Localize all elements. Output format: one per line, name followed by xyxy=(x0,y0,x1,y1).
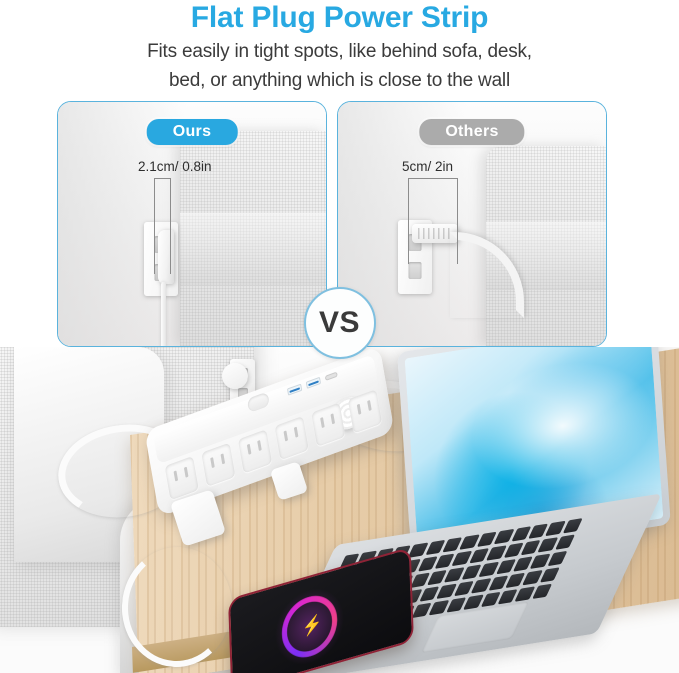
hero-wall-plug xyxy=(222,363,248,389)
outlet-socket-bottom xyxy=(409,262,422,279)
badge-others: Others xyxy=(419,119,524,145)
strip-outlet xyxy=(275,416,309,460)
strip-outlet xyxy=(238,429,272,473)
measurement-bracket-ours xyxy=(154,178,171,274)
product-infographic: Flat Plug Power Strip Fits easily in tig… xyxy=(0,0,679,673)
comparison-panel-others: 5cm/ 2in Others xyxy=(337,101,607,347)
comparison-panel-ours: 2.1cm/ 0.8in Ours xyxy=(57,101,327,347)
page-title: Flat Plug Power Strip xyxy=(0,0,679,35)
flat-plug-cord xyxy=(161,282,166,347)
header: Flat Plug Power Strip Fits easily in tig… xyxy=(0,0,679,96)
subtitle-line-1: Fits easily in tight spots, like behind … xyxy=(0,35,679,64)
strip-outlet xyxy=(201,443,235,487)
strip-outlet xyxy=(165,456,199,500)
measurement-bracket-others xyxy=(408,178,458,264)
hero-photo: ⚡ xyxy=(0,347,679,673)
subtitle-line-2: bed, or anything which is close to the w… xyxy=(0,64,679,93)
strip-outlet xyxy=(311,403,345,447)
comparison-section: 2.1cm/ 0.8in Ours 5cm/ 2in Others VS xyxy=(0,101,679,347)
sofa-cushion xyxy=(180,213,326,286)
vs-badge: VS xyxy=(304,287,376,359)
badge-ours: Ours xyxy=(147,119,238,145)
measurement-label-others: 5cm/ 2in xyxy=(402,159,453,174)
lightning-bolt-icon: ⚡ xyxy=(301,613,317,640)
measurement-label-ours: 2.1cm/ 0.8in xyxy=(138,159,212,174)
